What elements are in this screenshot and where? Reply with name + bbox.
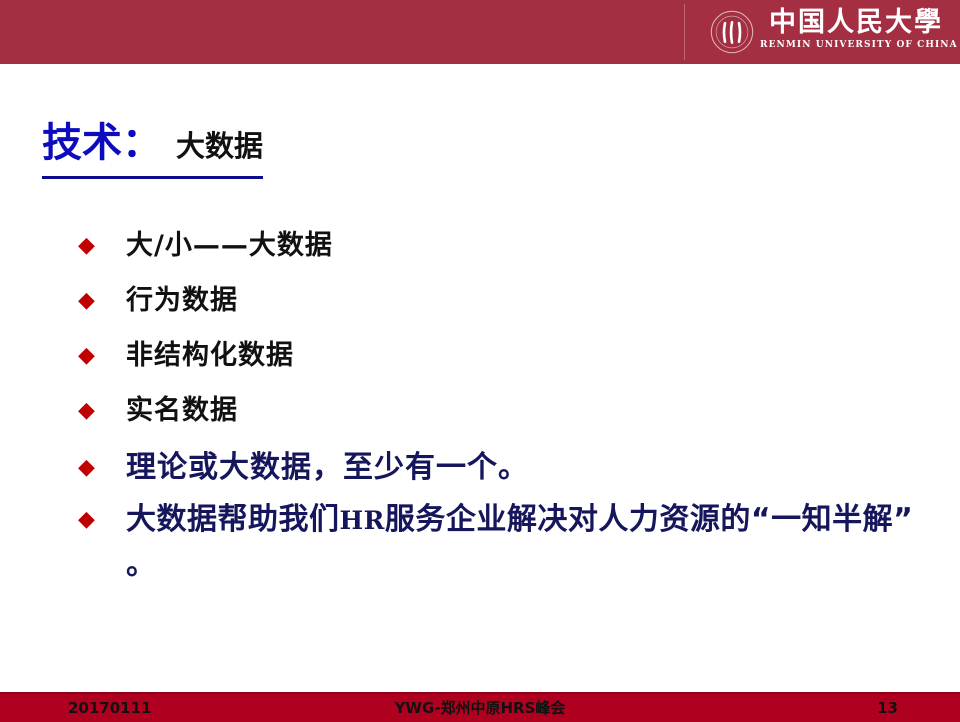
footer-title: YWG-郑州中原HRS峰会	[0, 696, 960, 720]
brand-text: 中国人民大學 RENMIN UNIVERSITY OF CHINA	[760, 7, 952, 52]
page-title-main: 技术：	[42, 120, 162, 166]
list-item-label-latin: HR	[340, 506, 385, 535]
list-item-label: 大数据帮助我们HR服务企业解决对人力资源的“一知半解” 。	[104, 498, 938, 587]
university-brand: 中国人民大學 RENMIN UNIVERSITY OF CHINA	[700, 3, 950, 61]
list-item: ◆ 大/小——大数据	[78, 228, 938, 264]
list-item: ◆ 理论或大数据，至少有一个。	[78, 448, 938, 488]
university-seal-icon	[710, 10, 754, 54]
list-item-label: 理论或大数据，至少有一个。	[104, 448, 938, 488]
page-title-underline: 技术：大数据	[42, 120, 263, 179]
page-title: 技术：大数据	[42, 120, 263, 174]
brand-name-cn: 中国人民大學	[760, 7, 952, 39]
list-item-label-part1: 大数据帮助我们	[126, 502, 340, 537]
slide: 中国人民大學 RENMIN UNIVERSITY OF CHINA 技术：大数据…	[0, 0, 960, 720]
list-item: ◆ 行为数据	[78, 283, 938, 319]
diamond-bullet-icon: ◆	[78, 228, 104, 264]
footer-band: 20170111 YWG-郑州中原HRS峰会 13	[0, 692, 960, 722]
list-item-label: 实名数据	[104, 393, 938, 429]
diamond-bullet-icon: ◆	[78, 448, 104, 488]
header-band: 中国人民大學 RENMIN UNIVERSITY OF CHINA	[0, 0, 960, 64]
diamond-bullet-icon: ◆	[78, 283, 104, 319]
list-item: ◆ 非结构化数据	[78, 338, 938, 374]
list-item-label: 大/小——大数据	[104, 228, 938, 264]
page-number: 13	[877, 696, 898, 720]
diamond-bullet-icon: ◆	[78, 338, 104, 374]
list-item-label: 非结构化数据	[104, 338, 938, 374]
list-item-label: 行为数据	[104, 283, 938, 319]
header-divider	[684, 4, 685, 60]
page-title-sub: 大数据	[176, 129, 263, 163]
bullet-list: ◆ 大/小——大数据 ◆ 行为数据 ◆ 非结构化数据 ◆ 实名数据 ◆ 理论或大…	[78, 228, 938, 600]
diamond-bullet-icon: ◆	[78, 498, 104, 542]
diamond-bullet-icon: ◆	[78, 393, 104, 429]
brand-name-en: RENMIN UNIVERSITY OF CHINA	[760, 39, 952, 52]
list-item: ◆ 大数据帮助我们HR服务企业解决对人力资源的“一知半解” 。	[78, 498, 938, 587]
list-item: ◆ 实名数据	[78, 393, 938, 429]
